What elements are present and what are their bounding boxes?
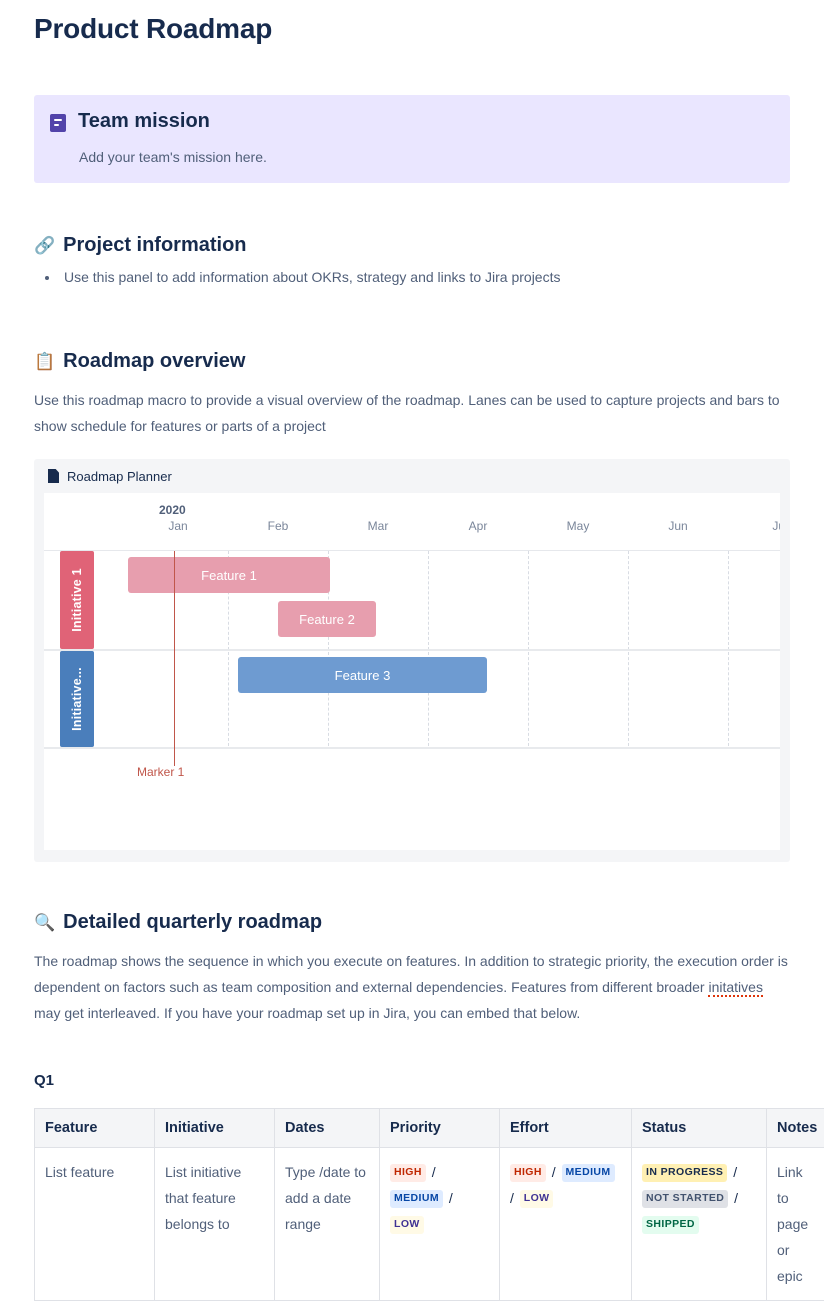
roadmap-gantt-chart[interactable]: 2020JanFebMarAprMayJunJul Initiative 1Fe… (44, 493, 780, 850)
cell-notes[interactable]: Link to page or epic (767, 1148, 824, 1301)
page-title: Product Roadmap (34, 0, 790, 45)
gantt-bar-label: Feature 2 (299, 612, 355, 627)
marker-line-1[interactable] (174, 551, 175, 766)
link-icon: 🔗 (34, 237, 55, 254)
lane-label-text: Initiative... (70, 667, 84, 731)
note-panel-icon (50, 114, 66, 132)
team-mission-panel[interactable]: Team mission Add your team's mission her… (34, 95, 790, 183)
table-header-notes[interactable]: Notes (767, 1109, 824, 1148)
roadmap-table[interactable]: FeatureInitiativeDatesPriorityEffortStat… (34, 1108, 824, 1301)
cell-priority[interactable]: HIGH / MEDIUM / LOW (380, 1148, 500, 1301)
chart-month-label-jun: Jun (668, 519, 687, 533)
list-item: Use this panel to add information about … (60, 267, 790, 287)
badge-separator: / (546, 1164, 562, 1180)
roadmap-overview-paragraph: Use this roadmap macro to provide a visu… (34, 387, 790, 439)
paragraph-part-after: may get interleaved. If you have your ro… (34, 1005, 580, 1021)
misspelled-word: initatives (708, 979, 762, 997)
page-content: Product Roadmap Team mission Add your te… (0, 0, 824, 1301)
cell-initiative[interactable]: List initiative that feature belongs to (155, 1148, 275, 1301)
lane-separator-bottom (44, 747, 780, 749)
gantt-bar-label: Feature 3 (335, 668, 391, 683)
lane-label-text: Initiative 1 (70, 568, 84, 632)
clipboard-icon: 📋 (34, 353, 55, 370)
cell-feature[interactable]: List feature (35, 1148, 155, 1301)
roadmap-planner-header: Roadmap Planner (34, 459, 790, 493)
lane-separator (44, 649, 780, 651)
table-header-priority[interactable]: Priority (380, 1109, 500, 1148)
status-badge[interactable]: HIGH (390, 1164, 426, 1182)
table-header-status[interactable]: Status (632, 1109, 767, 1148)
page-icon (48, 469, 59, 483)
status-badge[interactable]: HIGH (510, 1164, 546, 1182)
status-badge[interactable]: SHIPPED (642, 1216, 699, 1234)
lane-label-1[interactable]: Initiative 1 (60, 551, 94, 649)
badge-separator: / (443, 1190, 455, 1206)
table-header-feature[interactable]: Feature (35, 1109, 155, 1148)
cell-dates[interactable]: Type /date to add a date range (275, 1148, 380, 1301)
table-header-initiative[interactable]: Initiative (155, 1109, 275, 1148)
chart-month-label-mar: Mar (368, 519, 389, 533)
detailed-roadmap-paragraph: The roadmap shows the sequence in which … (34, 948, 790, 1026)
cell-status[interactable]: IN PROGRESS / NOT STARTED / SHIPPED (632, 1148, 767, 1301)
roadmap-planner-title: Roadmap Planner (67, 469, 172, 484)
chart-year-label: 2020 (159, 503, 186, 517)
status-badge[interactable]: LOW (390, 1216, 424, 1234)
chart-month-label-jul: Jul (772, 519, 780, 533)
chart-month-label-may: May (567, 519, 590, 533)
detailed-roadmap-heading-text: Detailed quarterly roadmap (63, 910, 322, 934)
roadmap-overview-heading: 📋 Roadmap overview (34, 349, 790, 373)
badge-separator: / (426, 1164, 438, 1180)
project-information-heading-text: Project information (63, 233, 246, 257)
detailed-roadmap-section: 🔍 Detailed quarterly roadmap The roadmap… (34, 910, 790, 1301)
gantt-bar-label: Feature 1 (201, 568, 257, 583)
table-header-effort[interactable]: Effort (500, 1109, 632, 1148)
marker-label-1: Marker 1 (137, 765, 184, 779)
roadmap-overview-heading-text: Roadmap overview (63, 349, 245, 373)
gantt-bar-feature-2[interactable]: Feature 2 (278, 601, 376, 637)
magnifier-icon: 🔍 (34, 914, 55, 931)
table-body: List featureList initiative that feature… (35, 1148, 824, 1301)
status-badge[interactable]: IN PROGRESS (642, 1164, 727, 1182)
team-mission-body: Team mission Add your team's mission her… (78, 109, 774, 167)
table-row: List featureList initiative that feature… (35, 1148, 824, 1301)
status-badge[interactable]: LOW (520, 1190, 554, 1208)
status-badge[interactable]: MEDIUM (390, 1190, 443, 1208)
status-badge[interactable]: NOT STARTED (642, 1190, 728, 1208)
gantt-bar-feature-1[interactable]: Feature 1 (128, 557, 330, 593)
chart-x-axis: 2020JanFebMarAprMayJunJul (44, 493, 780, 553)
roadmap-planner-macro[interactable]: Roadmap Planner 2020JanFebMarAprMayJunJu… (34, 459, 790, 862)
chart-month-label-jan: Jan (168, 519, 187, 533)
badge-separator: / (728, 1190, 740, 1206)
team-mission-text: Add your team's mission here. (78, 147, 774, 167)
status-badge[interactable]: MEDIUM (562, 1164, 615, 1182)
roadmap-overview-section: 📋 Roadmap overview Use this roadmap macr… (34, 349, 790, 862)
badge-separator: / (727, 1164, 739, 1180)
quarter-title: Q1 (34, 1072, 790, 1089)
chart-month-label-feb: Feb (268, 519, 289, 533)
project-information-section: 🔗 Project information Use this panel to … (34, 233, 790, 287)
project-information-list: Use this panel to add information about … (34, 267, 790, 287)
team-mission-title: Team mission (78, 109, 774, 133)
table-header-row: FeatureInitiativeDatesPriorityEffortStat… (35, 1109, 824, 1148)
paragraph-part-before: The roadmap shows the sequence in which … (34, 953, 788, 995)
cell-effort[interactable]: HIGH / MEDIUM / LOW (500, 1148, 632, 1301)
project-information-heading: 🔗 Project information (34, 233, 790, 257)
gantt-bar-feature-3[interactable]: Feature 3 (238, 657, 487, 693)
table-header-dates[interactable]: Dates (275, 1109, 380, 1148)
chart-month-label-apr: Apr (469, 519, 488, 533)
lane-label-2[interactable]: Initiative... (60, 651, 94, 747)
detailed-roadmap-heading: 🔍 Detailed quarterly roadmap (34, 910, 790, 934)
